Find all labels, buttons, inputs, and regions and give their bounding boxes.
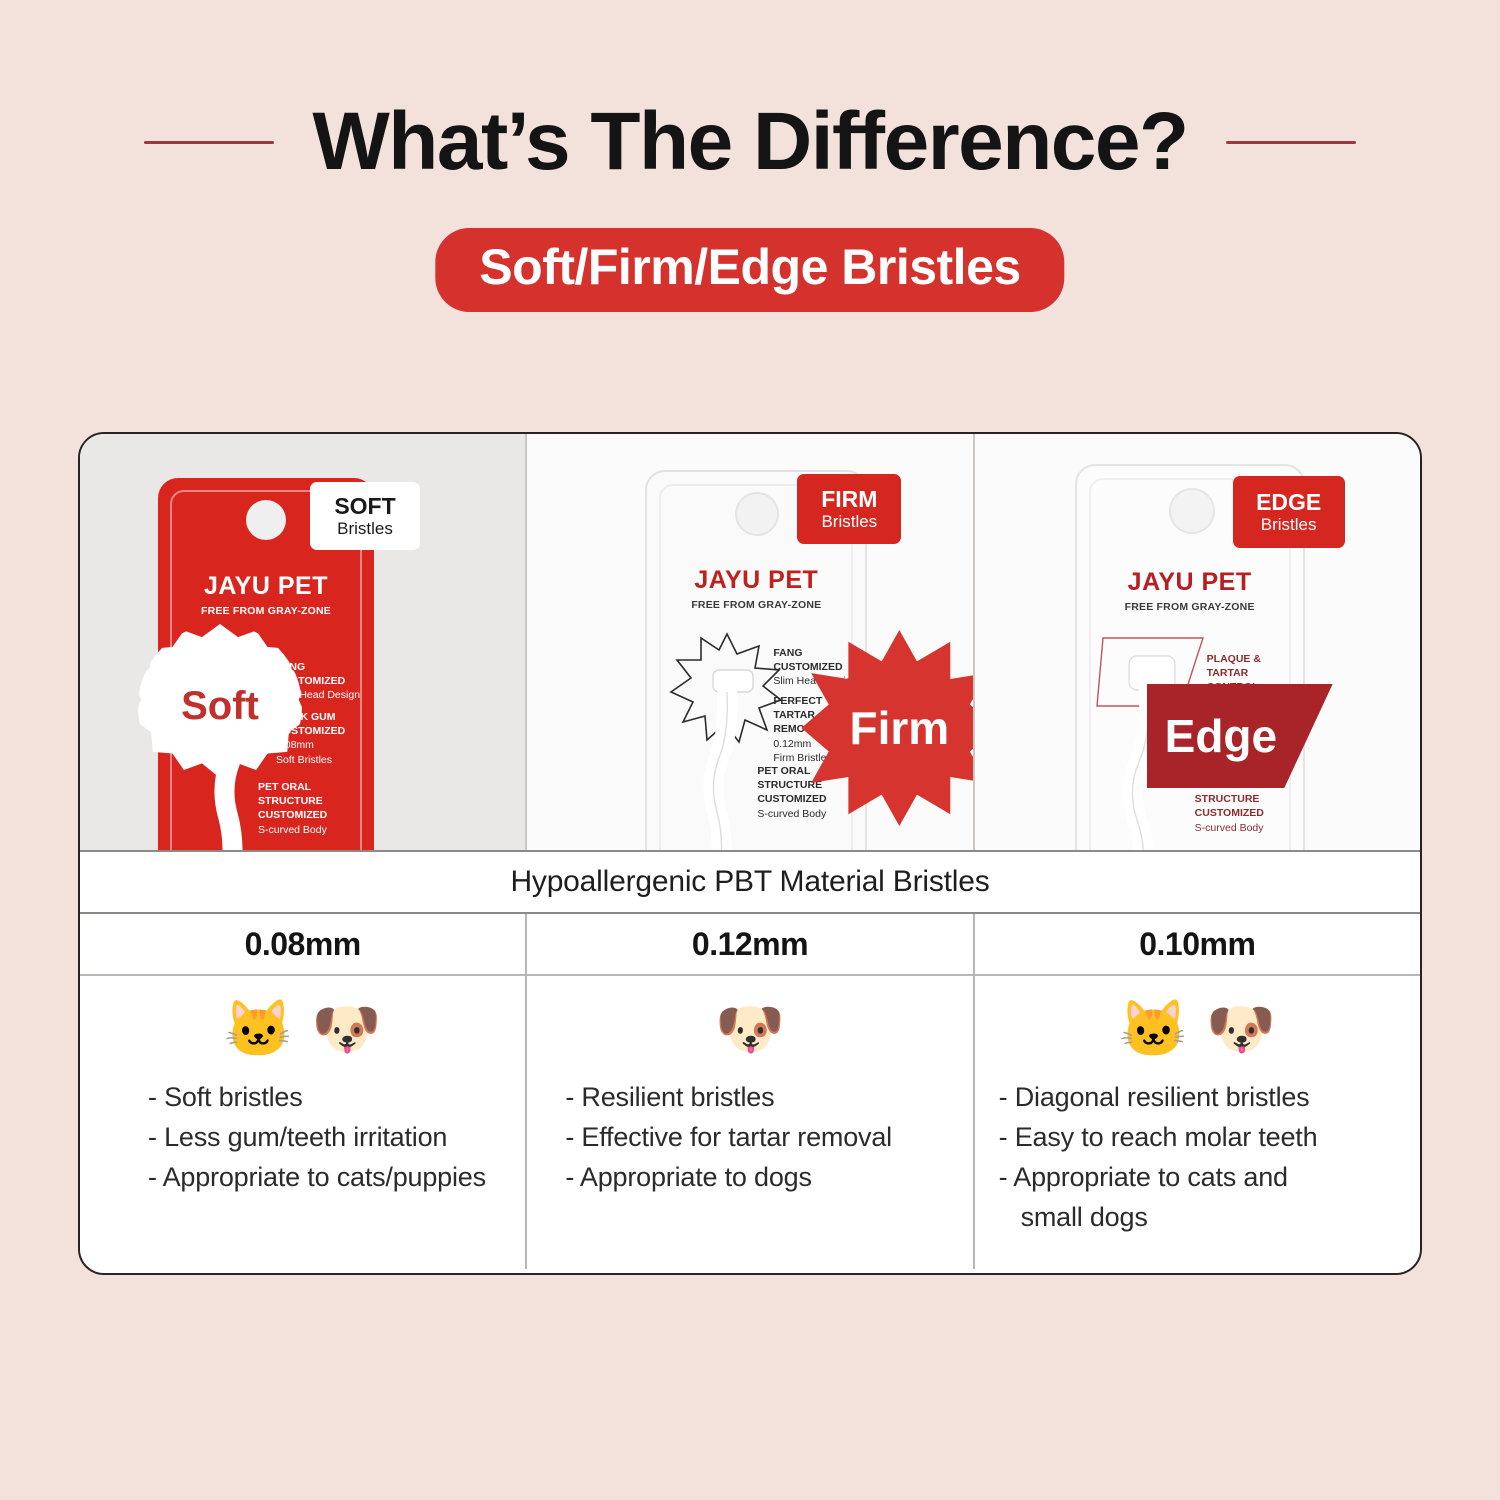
callout-firm-1-l2: CUSTOMIZED	[773, 660, 857, 674]
size-cell-firm: 0.12mm	[527, 914, 974, 974]
detail-row: 🐱 🐶 - Soft bristles - Less gum/teeth irr…	[80, 976, 1420, 1269]
variant-flag-edge: EDGE Bristles	[1233, 476, 1345, 548]
size-value-edge: 0.10mm	[1139, 926, 1255, 963]
brand-tagline-edge: FREE FROM GRAY-ZONE	[1077, 602, 1303, 613]
bullet-list-firm: - Resilient bristles - Effective for tar…	[527, 1078, 972, 1198]
comparison-card: JAYU PET FREE FROM GRAY-ZONE FANG CUSTOM…	[78, 432, 1422, 1275]
detail-cell-edge: 🐱 🐶 - Diagonal resilient bristles - Easy…	[975, 976, 1420, 1269]
variant-sub-firm: Bristles	[821, 512, 877, 532]
brand-tagline-firm: FREE FROM GRAY-ZONE	[647, 600, 865, 611]
callout-firm-1-title: FANG	[773, 646, 857, 660]
size-value-firm: 0.12mm	[692, 926, 808, 963]
brand-tagline-soft: FREE FROM GRAY-ZONE	[158, 606, 374, 617]
pet-icons-soft: 🐱 🐶	[224, 994, 381, 1064]
product-image-row: JAYU PET FREE FROM GRAY-ZONE FANG CUSTOM…	[80, 434, 1420, 850]
variant-name-firm: FIRM	[821, 486, 877, 512]
product-cell-edge: JAYU PET FREE FROM GRAY-ZONE PLAQUE & TA…	[975, 434, 1420, 850]
size-cell-edge: 0.10mm	[975, 914, 1420, 974]
pet-icons-firm: 🐶	[715, 994, 785, 1064]
callout-soft-3-title: PET ORAL STRUCTURE	[258, 780, 374, 808]
product-cell-firm: JAYU PET FREE FROM GRAY-ZONE FANG CUSTOM…	[527, 434, 974, 850]
brand-name-soft: JAYU PET	[158, 574, 374, 599]
material-label: Hypoallergenic PBT Material Bristles	[510, 865, 989, 899]
bullet-list-edge: - Diagonal resilient bristles - Easy to …	[975, 1078, 1420, 1238]
badge-edge: Edge	[1147, 684, 1333, 788]
callout-soft-3-l3: S-curved Body	[258, 823, 374, 837]
size-cell-soft: 0.08mm	[80, 914, 527, 974]
size-value-soft: 0.08mm	[245, 926, 361, 963]
variant-name-edge: EDGE	[1256, 489, 1321, 515]
badge-firm-label: Firm	[849, 705, 949, 751]
subtitle-badge: Soft/Firm/Edge Bristles	[435, 228, 1064, 312]
list-item: - Effective for tartar removal	[565, 1118, 972, 1158]
subtitle-label: Soft/Firm/Edge Bristles	[479, 242, 1020, 292]
callout-edge-3-l2: CUSTOMIZED	[1195, 806, 1303, 820]
variant-sub-edge: Bristles	[1261, 515, 1317, 535]
dog-face-icon: 🐶	[1206, 1001, 1276, 1057]
bullet-list-soft: - Soft bristles - Less gum/teeth irritat…	[80, 1078, 525, 1198]
list-item: - Appropriate to cats and small dogs	[999, 1158, 1420, 1238]
page-header: What’s The Difference? Soft/Firm/Edge Br…	[0, 0, 1500, 410]
list-item: - Resilient bristles	[565, 1078, 972, 1118]
callout-soft-2-l4: Soft Bristles	[276, 753, 345, 767]
detail-cell-firm: 🐶 - Resilient bristles - Effective for t…	[527, 976, 974, 1269]
cat-face-icon: 🐱	[1119, 1001, 1189, 1057]
hang-hole-icon	[1169, 488, 1215, 534]
variant-sub-soft: Bristles	[337, 519, 393, 539]
hang-hole-icon	[246, 500, 286, 540]
list-item: - Soft bristles	[148, 1078, 525, 1118]
dog-face-icon: 🐶	[715, 1001, 785, 1057]
list-item: - Less gum/teeth irritation	[148, 1118, 525, 1158]
badge-soft-label: Soft	[181, 686, 259, 726]
cat-face-icon: 🐱	[224, 1001, 294, 1057]
variant-flag-firm: FIRM Bristles	[797, 474, 901, 544]
product-cell-soft: JAYU PET FREE FROM GRAY-ZONE FANG CUSTOM…	[80, 434, 527, 850]
material-banner: Hypoallergenic PBT Material Bristles	[80, 850, 1420, 914]
variant-name-soft: SOFT	[334, 493, 395, 519]
list-item: - Easy to reach molar teeth	[999, 1118, 1420, 1158]
page-title: What’s The Difference?	[312, 101, 1187, 183]
title-row: What’s The Difference?	[0, 92, 1500, 192]
callout-edge-1-title: PLAQUE & TARTAR	[1207, 652, 1303, 680]
bristle-size-row: 0.08mm 0.12mm 0.10mm	[80, 914, 1420, 976]
hang-hole-icon	[735, 492, 779, 536]
list-item: - Appropriate to cats/puppies	[148, 1158, 525, 1198]
title-rule-right	[1226, 141, 1356, 144]
callout-soft-3: PET ORAL STRUCTURE CUSTOMIZED S-curved B…	[258, 780, 374, 837]
title-rule-left	[144, 141, 274, 144]
callout-soft-3-l2: CUSTOMIZED	[258, 808, 374, 822]
brand-name-edge: JAYU PET	[1077, 570, 1303, 595]
pet-icons-edge: 🐱 🐶	[1119, 994, 1276, 1064]
brand-name-firm: JAYU PET	[647, 568, 865, 593]
list-item: - Appropriate to dogs	[565, 1158, 972, 1198]
list-item: - Diagonal resilient bristles	[999, 1078, 1420, 1118]
callout-edge-3-l3: S-curved Body	[1195, 821, 1303, 835]
dog-face-icon: 🐶	[312, 1001, 382, 1057]
detail-cell-soft: 🐱 🐶 - Soft bristles - Less gum/teeth irr…	[80, 976, 527, 1269]
badge-edge-label: Edge	[1165, 713, 1277, 759]
variant-flag-soft: SOFT Bristles	[310, 482, 420, 550]
